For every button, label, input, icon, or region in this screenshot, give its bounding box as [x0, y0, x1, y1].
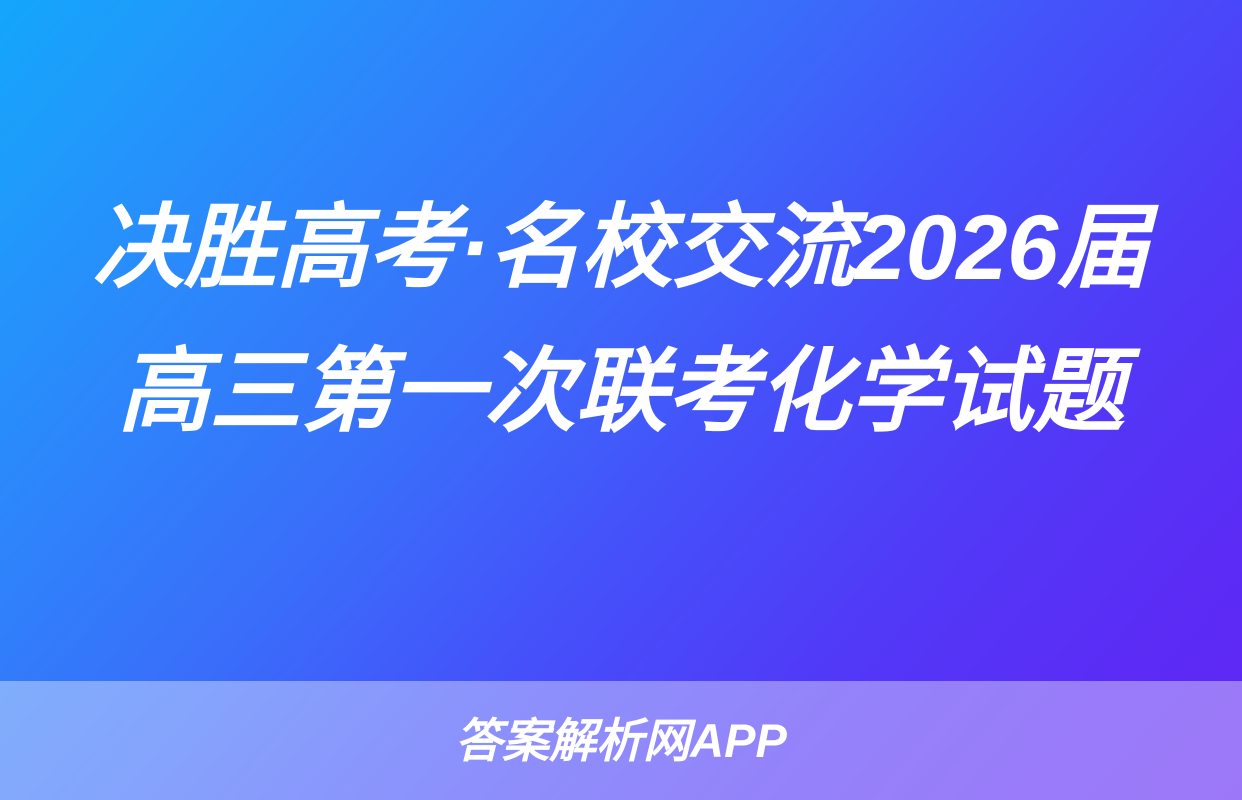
app-watermark-label: 答案解析网APP	[455, 717, 787, 764]
watermark-band: 答案解析网APP	[0, 681, 1242, 800]
exam-paper-cover-poster: 决胜高考·名校交流2026届高三第一次联考化学试题 答案解析网APP	[0, 0, 1242, 800]
poster-title-block: 决胜高考·名校交流2026届高三第一次联考化学试题	[86, 176, 1156, 464]
page-title: 决胜高考·名校交流2026届高三第一次联考化学试题	[86, 176, 1156, 464]
